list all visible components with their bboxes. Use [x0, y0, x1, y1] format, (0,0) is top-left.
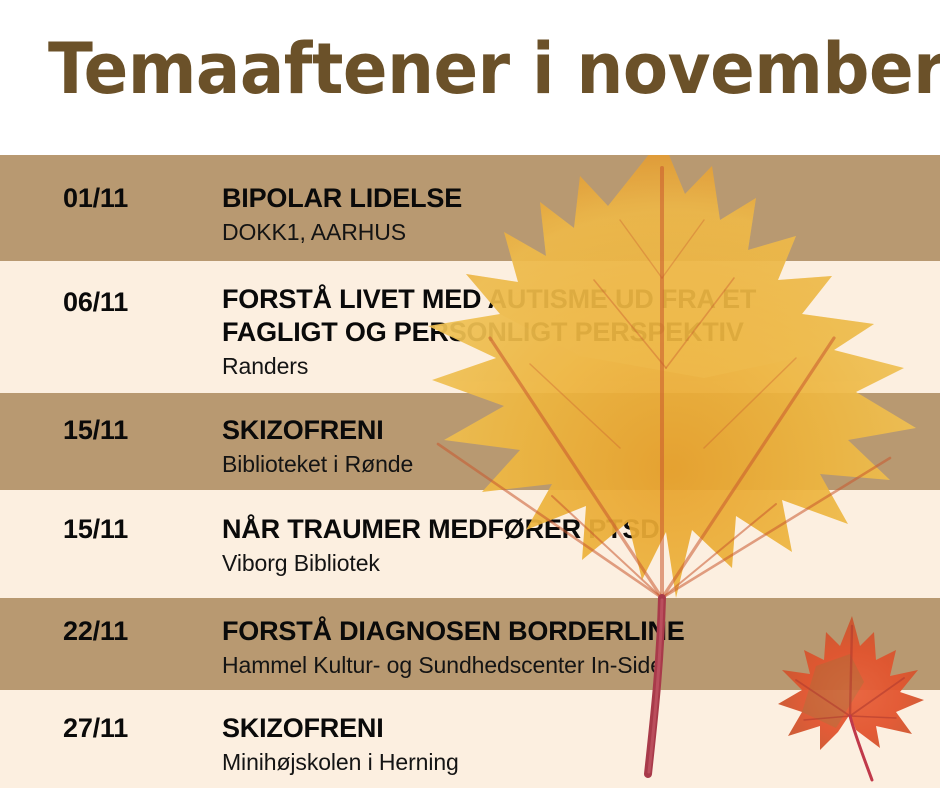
event-title: FORSTÅ LIVET MED AUTISME UD FRA ET — [222, 283, 932, 316]
poster-header: Temaaftener i november — [0, 0, 940, 155]
event-details: BIPOLAR LIDELSE DOKK1, AARHUS — [222, 182, 932, 247]
event-venue: Minihøjskolen i Herning — [222, 747, 932, 777]
schedule-list: 01/11 BIPOLAR LIDELSE DOKK1, AARHUS 06/1… — [0, 155, 940, 788]
event-date: 27/11 — [63, 712, 128, 744]
event-details: FORSTÅ DIAGNOSEN BORDERLINE Hammel Kultu… — [222, 615, 932, 680]
schedule-row: 22/11 FORSTÅ DIAGNOSEN BORDERLINE Hammel… — [0, 598, 940, 690]
event-date: 06/11 — [63, 286, 128, 318]
event-title: BIPOLAR LIDELSE — [222, 182, 932, 215]
event-date: 22/11 — [63, 615, 128, 647]
page-title: Temaaftener i november — [48, 26, 940, 112]
event-date: 15/11 — [63, 414, 128, 446]
event-date: 01/11 — [63, 182, 128, 214]
event-title: SKIZOFRENI — [222, 712, 932, 745]
schedule-row: 15/11 SKIZOFRENI Biblioteket i Rønde — [0, 393, 940, 490]
event-details: SKIZOFRENI Minihøjskolen i Herning — [222, 712, 932, 777]
event-date: 15/11 — [63, 513, 128, 545]
event-title: FORSTÅ DIAGNOSEN BORDERLINE — [222, 615, 932, 648]
schedule-row: 06/11 FORSTÅ LIVET MED AUTISME UD FRA ET… — [0, 261, 940, 393]
event-venue: Viborg Bibliotek — [222, 548, 932, 578]
event-details: FORSTÅ LIVET MED AUTISME UD FRA ET FAGLI… — [222, 283, 932, 381]
event-venue: Randers — [222, 351, 932, 381]
schedule-row: 27/11 SKIZOFRENI Minihøjskolen i Herning — [0, 690, 940, 788]
schedule-row: 01/11 BIPOLAR LIDELSE DOKK1, AARHUS — [0, 155, 940, 261]
event-venue: Hammel Kultur- og Sundhedscenter In-Side — [222, 650, 932, 680]
event-details: SKIZOFRENI Biblioteket i Rønde — [222, 414, 932, 479]
event-venue: Biblioteket i Rønde — [222, 449, 932, 479]
event-details: NÅR TRAUMER MEDFØRER PTSD Viborg Bibliot… — [222, 513, 932, 578]
event-title: SKIZOFRENI — [222, 414, 932, 447]
event-title: NÅR TRAUMER MEDFØRER PTSD — [222, 513, 932, 546]
poster: 01/11 BIPOLAR LIDELSE DOKK1, AARHUS 06/1… — [0, 0, 940, 788]
event-venue: DOKK1, AARHUS — [222, 217, 932, 247]
event-title-line2: FAGLIGT OG PERSONLIGT PERSPEKTIV — [222, 316, 932, 349]
schedule-row: 15/11 NÅR TRAUMER MEDFØRER PTSD Viborg B… — [0, 490, 940, 598]
